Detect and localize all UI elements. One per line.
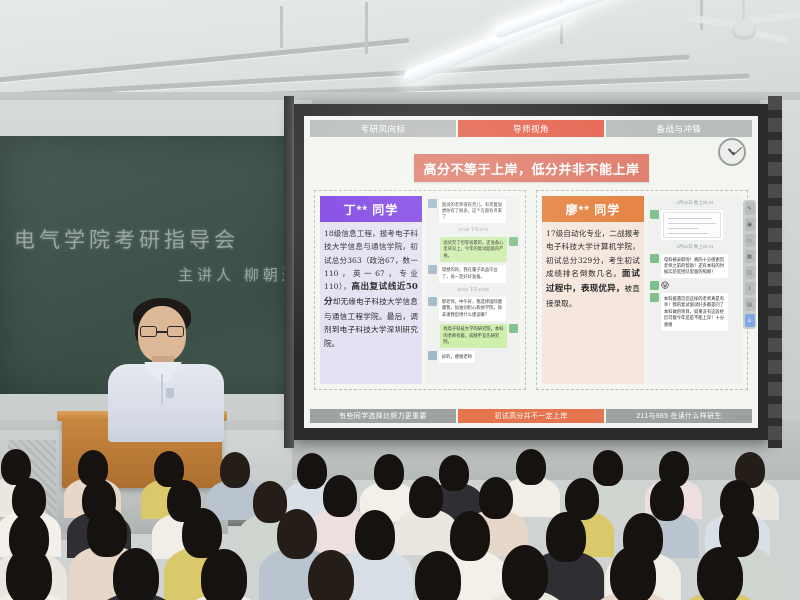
chat-bubble: 理想的的，我在量子高品毕业了，再一定好好准备。 — [439, 265, 506, 283]
emoji-icon: 😛 — [661, 281, 669, 290]
person-icon[interactable]: ♙ — [745, 314, 755, 327]
avatar — [428, 351, 437, 360]
avatar — [650, 281, 659, 290]
avatar — [428, 199, 437, 208]
chat-message: 面试的老师很有范儿，有笑着说想你有了很多，这个方面有点来了 — [428, 199, 518, 223]
chat-image-attachment[interactable] — [661, 210, 723, 240]
case-ding-chat-log: 面试的老师很有范儿，有笑着说想你有了很多，这个方面有点来了 17:26 下午17… — [426, 196, 520, 384]
case-ding-header: 丁** 同学 — [320, 196, 422, 222]
bottom-seg-1[interactable]: 有些同学选择比努力更重要 — [310, 409, 458, 423]
chat-timestamp: 18:02 下午18:06 — [428, 287, 518, 293]
case-liao-header: 廖** 同学 — [542, 196, 644, 222]
ceiling-rail — [0, 54, 690, 98]
avatar — [428, 297, 437, 306]
chat-message: 好的，感谢老师 — [428, 351, 518, 362]
wechat-side-toolbar[interactable]: ✎ ▣ ▭ ▩ ◫ ⇪ ▤ ♙ — [743, 200, 756, 329]
slide-tab-3[interactable]: 备战与冲锋 — [606, 120, 752, 137]
audience-head — [593, 450, 623, 486]
chat-message: 理想的的，我在量子高品毕业了，再一定好好准备。 — [428, 265, 518, 283]
gallery-icon[interactable]: ◫ — [745, 266, 755, 279]
chat-message: 找电子科技大学的研究院，本科的老师有能，成绩不宜先研究院。 — [428, 324, 518, 348]
chat-message-emoji: 😛 — [650, 281, 740, 290]
audience-head — [479, 477, 513, 519]
chat-bubble: 找电子科技大学的研究院，本科的老师有能，成绩不宜先研究院。 — [440, 324, 507, 348]
avatar — [509, 324, 518, 333]
case-ding-body: 18级信息工程，报考电子科技大学信息与通信学院，初试总分363（政治67，数一1… — [320, 222, 422, 384]
presentation-slide: 考研风向标 导师视角 备战与冲锋 高分不等于上岸，低分并非不能上岸 丁** 同学… — [304, 116, 758, 428]
screenshot-thumbnail — [663, 212, 721, 238]
chat-message: 电科被录取啦！真的十分感谢您老师之前的帮助！还有本科的时候实验室团队里面的照顾！ — [650, 254, 740, 278]
case-card-ding: 丁** 同学 18级信息工程，报考电子科技大学信息与通信学院，初试总分363（政… — [314, 190, 526, 390]
audience-head — [355, 510, 395, 560]
case-liao-body: 17级自动化专业，二战报考电子科技大学计算机学院，初试总分329分，考生初试成绩… — [542, 222, 644, 384]
audience-head — [220, 452, 250, 488]
qr-icon[interactable]: ▩ — [745, 250, 755, 263]
projection-screen: 考研风向标 导师视角 备战与冲锋 高分不等于上岸，低分并非不能上岸 丁** 同学… — [292, 104, 770, 440]
presenter-placket — [161, 374, 163, 404]
case-card-liao: 廖** 同学 17级自动化专业，二战报考电子科技大学计算机学院，初试总分329分… — [536, 190, 748, 390]
avatar — [428, 265, 437, 274]
screenshot-icon[interactable]: ▣ — [745, 218, 755, 231]
share-icon[interactable]: ⇪ — [745, 282, 755, 295]
slide-title: 高分不等于上岸，低分并非不能上岸 — [414, 154, 649, 182]
slide-tab-2-active[interactable]: 导师视角 — [458, 120, 606, 137]
case-liao-chat-log: 3月21日 晚上20:44 3月31日 晚上20:41 — [648, 196, 742, 384]
pen-icon[interactable]: ✎ — [745, 202, 755, 215]
case-cards: 丁** 同学 18级信息工程，报考电子科技大学信息与通信学院，初试总分363（政… — [314, 190, 748, 390]
lecture-hall-scene: 电气学院考研指导会 主讲人 柳朝进老师 考研风向标 导师视角 备战与冲锋 高分不 — [0, 0, 800, 600]
avatar — [509, 237, 518, 246]
audience-head — [650, 479, 684, 521]
avatar — [650, 254, 659, 263]
audience-head — [308, 550, 354, 600]
chat-message: 面试完了但等很累的，还准备心里草没上，今年的复试超级的严格。 — [428, 237, 518, 261]
avatar — [650, 210, 659, 219]
chat-bubble: 面试的老师很有范儿，有笑着说想你有了很多，这个方面有点来了 — [439, 199, 506, 223]
chat-bubble: 那老师，中午好，我选择国际健康我，加油别担心和他学院，除非请我您用什么建议嘛？ — [439, 297, 506, 321]
bottom-seg-3[interactable]: 211与985 在读什么样研生 — [606, 409, 752, 423]
audience-head — [113, 548, 159, 600]
window-icon[interactable]: ▭ — [745, 234, 755, 247]
clock-icon — [718, 138, 746, 166]
audience-head — [450, 511, 490, 561]
audience-head — [277, 509, 317, 559]
audience-head — [502, 545, 548, 600]
ceiling-fan — [690, 8, 790, 48]
chat-message: 本科能遇见您这样的老师真是有幸！我的复试面试好多都是问了本科做的项目，如果没有这… — [650, 293, 740, 330]
case-ding-text-2: 却无缘电子科技大学信息与通信工程学院。最后，调剂到电子科技大学深圳研究院。 — [324, 297, 418, 348]
slide-tab-bar: 考研风向标 导师视角 备战与冲锋 — [310, 120, 752, 137]
audience-head — [415, 551, 461, 600]
audience-head — [87, 507, 127, 557]
blackboard-title: 电气学院考研指导会 — [14, 224, 239, 254]
slide-bottom-bar: 有些同学选择比努力更重要 初试高分并不一定上岸 211与985 在读什么样研生 — [310, 409, 752, 423]
audience — [0, 440, 800, 600]
chat-message: 那老师，中午好，我选择国际健康我，加油别担心和他学院，除非请我您用什么建议嘛？ — [428, 297, 518, 321]
chat-timestamp: 3月31日 晚上20:41 — [650, 244, 740, 250]
bottom-seg-2-active[interactable]: 初试高分并不一定上岸 — [458, 409, 606, 423]
light-hanger — [280, 6, 283, 48]
page-number: 24/33 — [737, 416, 752, 422]
audience-head — [297, 453, 327, 489]
audience-head — [409, 476, 443, 518]
presenter — [100, 290, 230, 440]
shirt-logo — [166, 388, 174, 398]
chat-message-image — [650, 210, 740, 240]
slide-tab-1[interactable]: 考研风向标 — [310, 120, 458, 137]
chat-timestamp: 17:26 下午17:3 — [428, 227, 518, 233]
chat-timestamp: 3月21日 晚上20:44 — [650, 200, 740, 206]
chat-bubble: 好的，感谢老师 — [439, 351, 475, 362]
audience-head — [610, 546, 656, 600]
audience-head — [323, 475, 357, 517]
chat-bubble: 面试完了但等很累的，还准备心里草没上，今年的复试超级的严格。 — [440, 237, 507, 261]
audience-head — [516, 449, 546, 485]
audience-head — [6, 547, 52, 600]
audience-head — [201, 549, 247, 600]
audience-head — [546, 512, 586, 562]
audience-head — [374, 454, 404, 490]
glasses-icon — [140, 326, 184, 337]
audience-head — [439, 455, 469, 491]
chat-bubble: 本科能遇见您这样的老师真是有幸！我的复试面试好多都是问了本科做的项目，如果没有这… — [661, 293, 728, 330]
avatar — [650, 293, 659, 302]
light-hanger — [365, 2, 368, 54]
audience-head — [697, 547, 743, 600]
save-icon[interactable]: ▤ — [745, 298, 755, 311]
chat-bubble: 电科被录取啦！真的十分感谢您老师之前的帮助！还有本科的时候实验室团队里面的照顾！ — [661, 254, 728, 278]
